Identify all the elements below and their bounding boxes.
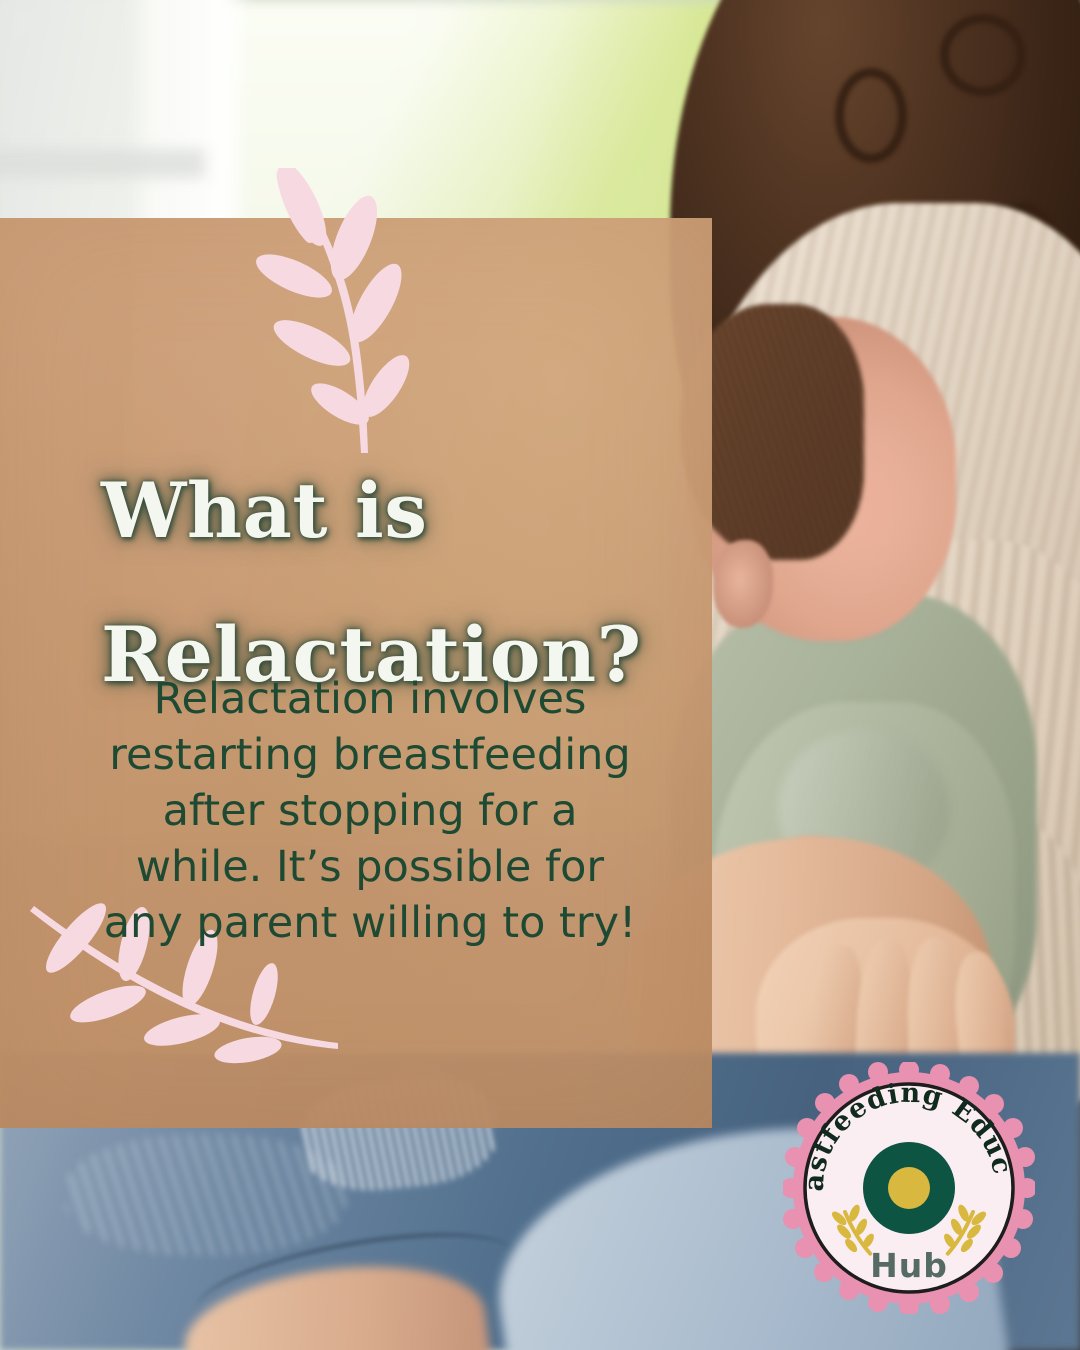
badge-hub-text: Hub: [870, 1246, 948, 1285]
badge-emblem-center: [888, 1167, 930, 1209]
logo-badge[interactable]: Breastfeeding Educator Hub: [783, 1062, 1035, 1314]
body-line-3: after stopping for a: [60, 784, 680, 840]
title-line-1: What is: [101, 452, 661, 570]
hair-curl: [940, 14, 1026, 96]
leaf-branch-top-icon: [228, 168, 428, 458]
body-line-2: restarting breastfeeding: [60, 728, 680, 784]
body-line-1: Relactation involves: [60, 672, 680, 728]
social-post-canvas: What is Relactation? Relactation involve…: [0, 0, 1080, 1350]
body-line-5: any parent willing to try!: [60, 896, 680, 952]
body-copy: Relactation involves restarting breastfe…: [60, 672, 680, 951]
window-sill: [0, 149, 205, 179]
hair-curl: [835, 68, 907, 163]
body-line-4: while. It’s possible for: [60, 840, 680, 896]
baby-ear: [713, 540, 773, 628]
